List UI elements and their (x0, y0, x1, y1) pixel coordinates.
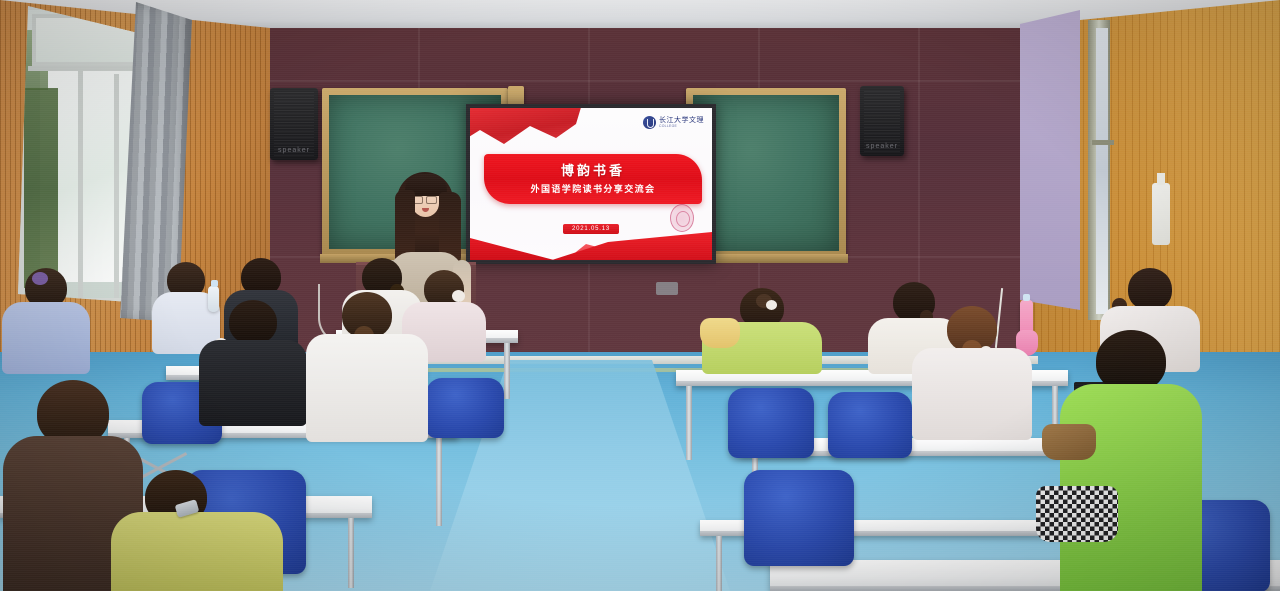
student-left-mid-1 (196, 300, 310, 426)
glasses-icon (412, 195, 437, 202)
speaker-right-label: speaker (860, 143, 904, 150)
student-left-mid-2 (304, 292, 430, 442)
logo-mark-icon (643, 116, 656, 129)
chair-front-right-1[interactable] (744, 470, 854, 566)
handbag (1042, 424, 1096, 460)
slide: 长江大学文理 COLLEGE 博韵书香 外国语学院读书分享交流会 2021.05… (470, 108, 712, 260)
student-mid-1 (910, 306, 1034, 440)
chair-mid-right-1[interactable] (728, 388, 814, 458)
student-front-right (1056, 330, 1206, 591)
projection-screen: 长江大学文理 COLLEGE 博韵书香 外国语学院读书分享交流会 2021.05… (466, 104, 716, 264)
logo-subtext: COLLEGE (659, 124, 704, 128)
speaker-right: speaker (860, 86, 904, 156)
slide-title: 博韵书香 (484, 160, 702, 179)
university-logo: 长江大学文理 COLLEGE (643, 116, 704, 129)
decorative-seal-icon (670, 204, 694, 232)
student-left-back-3 (0, 268, 92, 374)
flag-graphic (470, 108, 582, 150)
slide-banner: 博韵书香 外国语学院读书分享交流会 (484, 154, 702, 204)
right-door-divider (1092, 140, 1114, 145)
wall-outlet (656, 282, 678, 295)
slide-subtitle: 外国语学院读书分享交流会 (484, 182, 702, 195)
classroom-photo: speaker speaker 长江大学文理 COLLEGE 博韵书香 外国语学… (0, 0, 1280, 591)
wall-mounted-device (1152, 183, 1170, 245)
logo-text: 长江大学文理 (659, 117, 704, 124)
right-wall-upper (1020, 10, 1080, 310)
slide-bottom-graphics (470, 230, 712, 260)
chair-mid-left-2[interactable] (426, 378, 504, 438)
houndstooth-bag (1036, 486, 1118, 542)
desk-item-bag (700, 318, 740, 348)
student-front-left-2 (108, 470, 286, 591)
chair-mid-right-2[interactable] (828, 392, 912, 458)
